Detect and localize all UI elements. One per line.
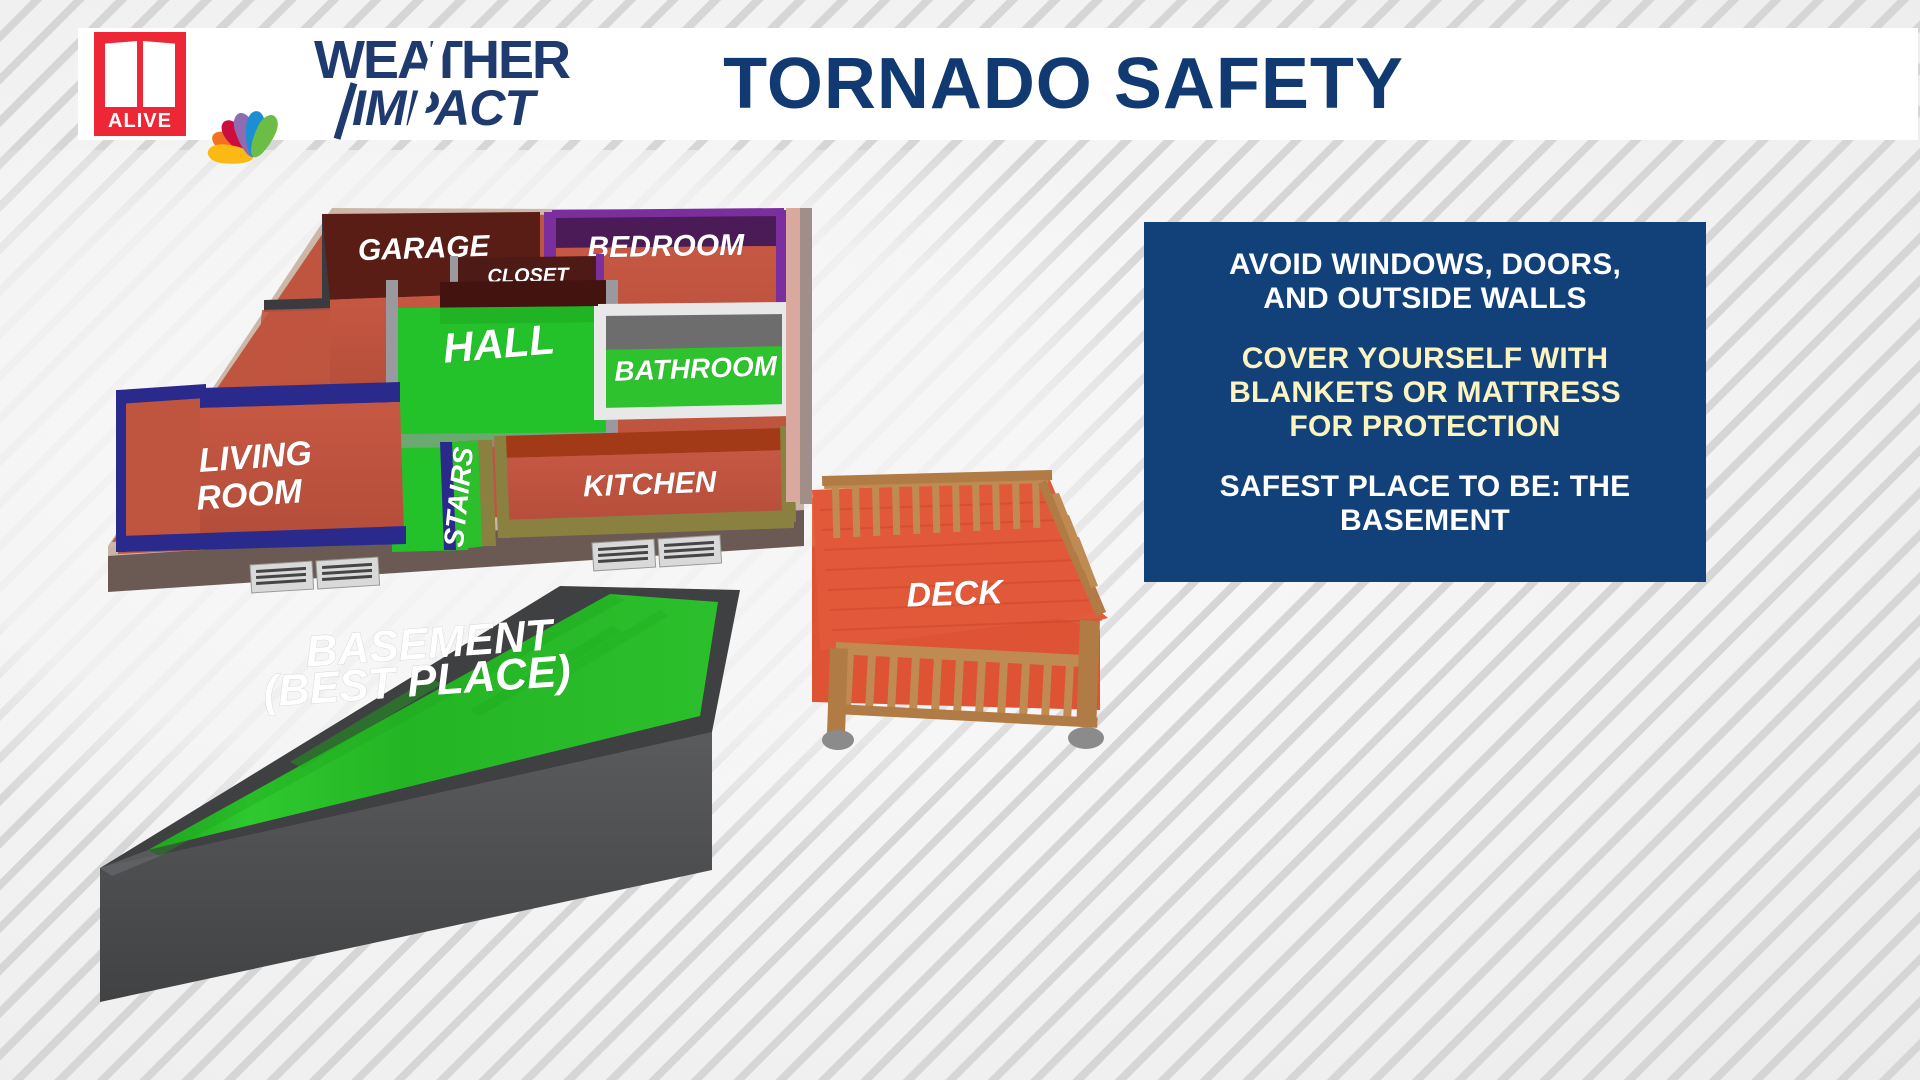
room-living-room: LIVING ROOM LIVING ROOM (116, 382, 406, 554)
tip-2-line-3: FOR PROTECTION (1164, 410, 1686, 444)
alive-wordmark: ALIVE (108, 110, 172, 132)
logo-bar-left (105, 41, 137, 107)
safety-tips-panel: AVOID WINDOWS, DOORS, AND OUTSIDE WALLS … (1144, 222, 1706, 582)
room-label-bedroom: BEDROOM (587, 229, 745, 265)
room-label-room: ROOM (195, 472, 304, 517)
tip-1-line-2: AND OUTSIDE WALLS (1164, 282, 1686, 316)
deck: DECK (812, 470, 1108, 750)
room-label-kitchen: KITCHEN (582, 466, 718, 504)
room-kitchen: KITCHEN (494, 426, 796, 538)
page-title: TORNADO SAFETY (529, 43, 1918, 125)
nbc-peacock-icon (202, 63, 298, 131)
tip-1-line-1: AVOID WINDOWS, DOORS, (1164, 248, 1686, 282)
tip-3-line-1: SAFEST PLACE TO BE: THE (1164, 470, 1686, 504)
eleven-logo-bars (105, 41, 175, 107)
logo-bar-right (143, 41, 175, 107)
room-label-bathroom: BATHROOM (614, 350, 778, 387)
tip-paragraph-2: COVER YOURSELF WITH BLANKETS OR MATTRESS… (1164, 342, 1686, 444)
panel-spacer-1 (1164, 316, 1686, 342)
weather-impact-wordmark: WEATHER IMPACT (314, 36, 569, 132)
header-bar: ALIVE WEATHER IMPACT TORNADO SAFETY (78, 28, 1918, 140)
tip-3-line-2: BASEMENT (1164, 504, 1686, 538)
deck-label: DECK (906, 573, 1006, 614)
logo-block: ALIVE WEATHER IMPACT (78, 28, 569, 140)
tip-2-line-2: BLANKETS OR MATTRESS (1164, 376, 1686, 410)
room-label-hall: HALL (441, 315, 557, 372)
deck-railing-far (822, 470, 1052, 538)
eleven-alive-logo: ALIVE (94, 32, 186, 136)
deck-post-footing-left (822, 730, 854, 750)
tip-paragraph-1: AVOID WINDOWS, DOORS, AND OUTSIDE WALLS (1164, 248, 1686, 316)
deck-post-footing-right (1068, 727, 1104, 749)
tip-2-line-1: COVER YOURSELF WITH (1164, 342, 1686, 376)
panel-spacer-2 (1164, 444, 1686, 470)
room-bathroom: BATHROOM (594, 302, 794, 420)
tip-paragraph-3: SAFEST PLACE TO BE: THE BASEMENT (1164, 470, 1686, 538)
room-stairs: STAIRS (438, 440, 496, 550)
